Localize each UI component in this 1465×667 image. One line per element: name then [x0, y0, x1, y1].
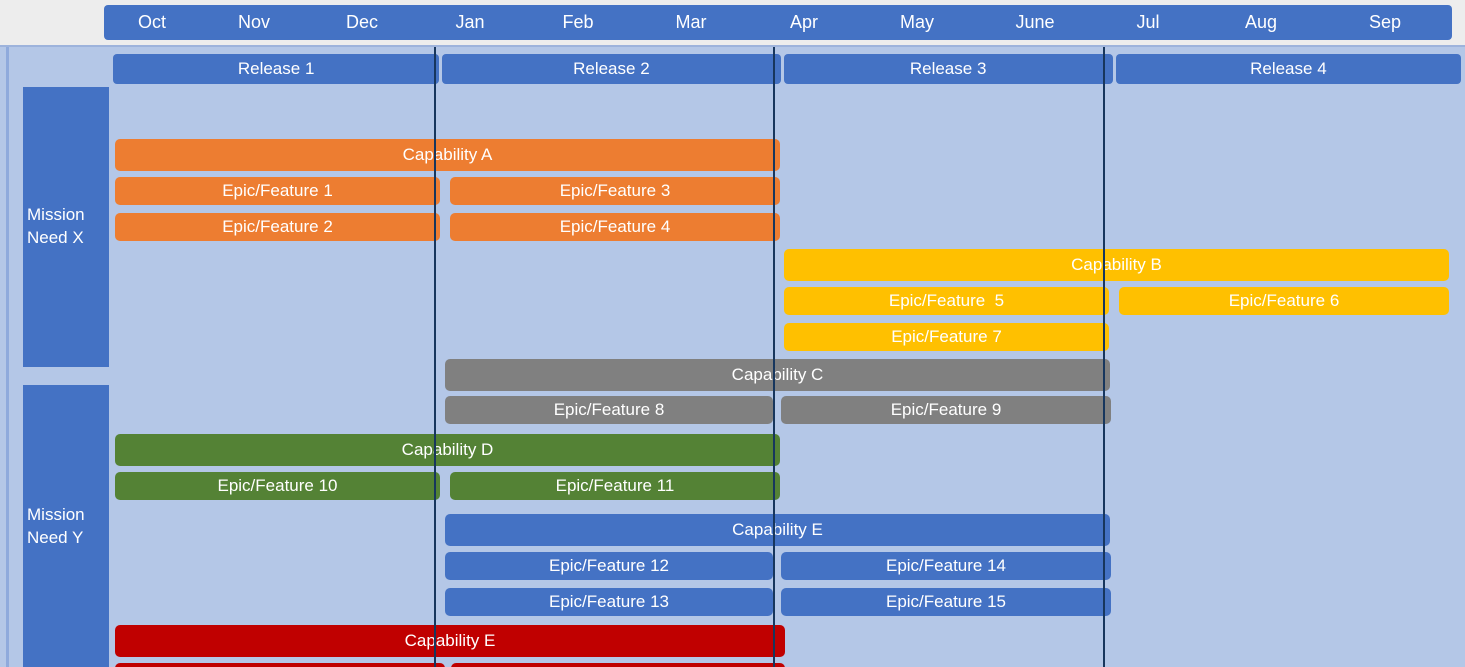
- release-pill-2[interactable]: Release 2: [442, 54, 780, 84]
- board-inner: Release 1Release 2Release 3Release 4 Mis…: [6, 47, 1465, 667]
- month-cell-feb: Feb: [524, 5, 632, 40]
- month-cell-dec: Dec: [308, 5, 416, 40]
- month-cell-nov: Nov: [200, 5, 308, 40]
- mission-need-label-1[interactable]: MissionNeed X: [23, 87, 109, 367]
- bar-capability-c[interactable]: Capability C: [445, 359, 1110, 391]
- bar-label: Epic/Feature 10: [217, 476, 337, 496]
- month-cell-mar: Mar: [632, 5, 750, 40]
- bar-label: Capability D: [402, 440, 494, 460]
- bar-epic-feature-2[interactable]: Epic/Feature 2: [115, 213, 440, 241]
- bar-label: Epic/Feature 8: [554, 400, 665, 420]
- month-cell-jan: Jan: [416, 5, 524, 40]
- bar-epic-feature-17[interactable]: Epic/Feature 17: [451, 663, 785, 667]
- release-header-row: Release 1Release 2Release 3Release 4: [113, 54, 1461, 84]
- bar-epic-feature-3[interactable]: Epic/Feature 3: [450, 177, 780, 205]
- bar-epic-feature-4[interactable]: Epic/Feature 4: [450, 213, 780, 241]
- month-cell-june: June: [976, 5, 1094, 40]
- month-cell-jul: Jul: [1094, 5, 1202, 40]
- bar-label: Capability A: [403, 145, 493, 165]
- bar-capability-d[interactable]: Capability D: [115, 434, 780, 466]
- month-cell-may: May: [858, 5, 976, 40]
- bar-epic-feature-16[interactable]: Epic/Feature 16: [115, 663, 445, 667]
- bar-label: Epic/Feature 13: [549, 592, 669, 612]
- month-header: OctNovDecJanFebMarAprMayJuneJulAugSep: [104, 5, 1452, 40]
- bar-label: Epic/Feature 14: [886, 556, 1006, 576]
- bar-capability-b[interactable]: Capability B: [784, 249, 1449, 281]
- month-cell-sep: Sep: [1320, 5, 1450, 40]
- bar-label: Capability B: [1071, 255, 1162, 275]
- mission-need-line: Mission: [27, 504, 85, 527]
- month-cell-aug: Aug: [1202, 5, 1320, 40]
- release-pill-3[interactable]: Release 3: [784, 54, 1113, 84]
- bar-capability-a[interactable]: Capability A: [115, 139, 780, 171]
- release-pill-4[interactable]: Release 4: [1116, 54, 1461, 84]
- bar-epic-feature-7[interactable]: Epic/Feature 7: [784, 323, 1109, 351]
- bar-epic-feature-14[interactable]: Epic/Feature 14: [781, 552, 1111, 580]
- bar-label: Epic/Feature 5: [889, 291, 1004, 311]
- bar-capability-e-red[interactable]: Capability E: [115, 625, 785, 657]
- bar-label: Epic/Feature 11: [556, 476, 675, 496]
- bar-epic-feature-13[interactable]: Epic/Feature 13: [445, 588, 773, 616]
- bar-epic-feature-5[interactable]: Epic/Feature 5: [784, 287, 1109, 315]
- release-divider-2: [773, 47, 775, 667]
- roadmap-canvas: OctNovDecJanFebMarAprMayJuneJulAugSep Re…: [0, 0, 1465, 667]
- bar-epic-feature-10[interactable]: Epic/Feature 10: [115, 472, 440, 500]
- bar-label: Capability E: [732, 520, 823, 540]
- mission-need-label-2[interactable]: MissionNeed Y: [23, 385, 109, 667]
- bar-epic-feature-11[interactable]: Epic/Feature 11: [450, 472, 780, 500]
- bar-epic-feature-8[interactable]: Epic/Feature 8: [445, 396, 773, 424]
- bar-label: Epic/Feature 12: [549, 556, 669, 576]
- bar-label: Epic/Feature 4: [560, 217, 671, 237]
- bar-epic-feature-12[interactable]: Epic/Feature 12: [445, 552, 773, 580]
- bar-label: Epic/Feature 7: [891, 327, 1002, 347]
- bar-label: Epic/Feature 1: [222, 181, 333, 201]
- bar-epic-feature-15[interactable]: Epic/Feature 15: [781, 588, 1111, 616]
- bar-label: Capability E: [405, 631, 496, 651]
- bar-capability-e-blue[interactable]: Capability E: [445, 514, 1110, 546]
- release-pill-1[interactable]: Release 1: [113, 54, 439, 84]
- release-divider-1: [434, 47, 436, 667]
- bar-label: Epic/Feature 2: [222, 217, 333, 237]
- mission-need-line: Need Y: [27, 527, 83, 550]
- month-cell-oct: Oct: [104, 5, 200, 40]
- bar-label: Epic/Feature 15: [886, 592, 1006, 612]
- roadmap-board: Release 1Release 2Release 3Release 4 Mis…: [0, 45, 1465, 667]
- month-cell-apr: Apr: [750, 5, 858, 40]
- bar-epic-feature-6[interactable]: Epic/Feature 6: [1119, 287, 1449, 315]
- mission-need-line: Need X: [27, 227, 84, 250]
- bar-label: Epic/Feature 3: [560, 181, 671, 201]
- release-divider-3: [1103, 47, 1105, 667]
- bar-label: Capability C: [732, 365, 824, 385]
- mission-need-line: Mission: [27, 204, 85, 227]
- bar-label: Epic/Feature 6: [1229, 291, 1340, 311]
- bar-epic-feature-1[interactable]: Epic/Feature 1: [115, 177, 440, 205]
- bar-label: Epic/Feature 9: [891, 400, 1002, 420]
- bar-epic-feature-9[interactable]: Epic/Feature 9: [781, 396, 1111, 424]
